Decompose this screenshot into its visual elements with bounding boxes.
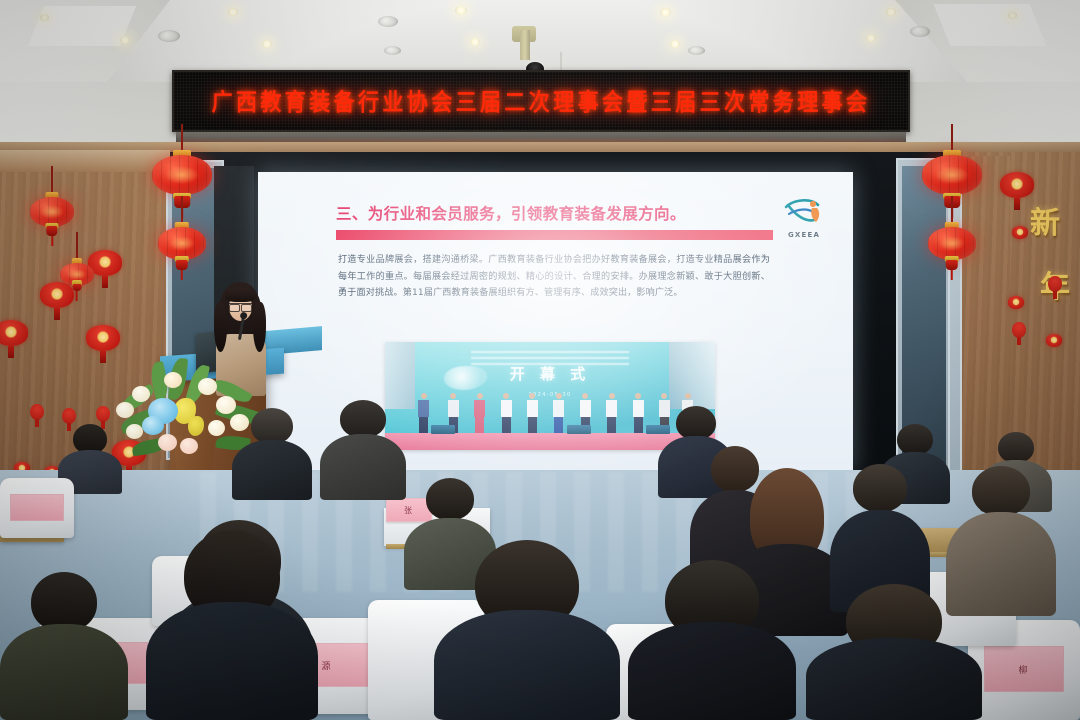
hanging-lantern xyxy=(928,222,976,268)
audience-shoulders xyxy=(320,434,406,500)
papercut-flake xyxy=(1048,276,1062,292)
photo-sidewall-left xyxy=(385,342,415,409)
papercut-lantern xyxy=(86,325,120,351)
papercut-lantern xyxy=(1000,172,1034,198)
rose xyxy=(180,438,198,454)
audience-head xyxy=(998,432,1034,463)
photo-stage-person xyxy=(633,393,644,433)
hydrangea xyxy=(142,416,164,435)
hanging-lantern xyxy=(60,258,94,290)
rose xyxy=(126,424,143,439)
papercut-flake xyxy=(30,404,44,420)
audience-head xyxy=(426,478,474,520)
audience-head xyxy=(251,408,293,444)
wood-wall-left-top-trim xyxy=(0,150,170,172)
downlight xyxy=(228,8,238,16)
slide-body-text: 打造专业品牌展会，搭建沟通桥梁。广西教育装备行业协会把办好教育装备展会，打造专业… xyxy=(338,252,770,302)
photo-stage-monitor xyxy=(567,425,591,434)
audience-head xyxy=(853,464,907,512)
photo-stage-monitor xyxy=(431,425,455,434)
gxeea-logo-icon xyxy=(782,196,826,230)
downlight xyxy=(670,40,680,48)
papercut-flower xyxy=(1008,296,1024,309)
conference-room-photo: 广西教育装备行业协会三届二次理事会暨三届三次常务理事会 新 年 xyxy=(0,0,1080,720)
audience-member-foreground xyxy=(806,584,982,720)
chair-name-card xyxy=(10,494,63,522)
rose xyxy=(198,378,217,395)
ceiling-speaker xyxy=(688,46,705,55)
audience-head xyxy=(676,406,716,440)
speaker-hair-left xyxy=(214,302,227,352)
photo-stage-person xyxy=(527,393,538,433)
chair-with-name-card xyxy=(0,478,74,538)
photo-headline: 开 幕 式 xyxy=(464,367,636,392)
association-logo: GXEEA xyxy=(773,188,835,246)
led-banner-screen: 广西教育装备行业协会三届二次理事会暨三届三次常务理事会 xyxy=(174,72,908,130)
audience-shoulders xyxy=(232,440,312,500)
downlight xyxy=(40,14,49,21)
rose xyxy=(116,402,134,418)
papercut-flower xyxy=(1046,334,1062,347)
audience-head xyxy=(897,424,933,455)
audience-head xyxy=(340,400,386,438)
papercut-flake xyxy=(1012,322,1026,338)
audience-member-foreground xyxy=(628,560,796,720)
downlight xyxy=(455,6,467,15)
audience-shoulders xyxy=(146,602,318,720)
photo-stage-person xyxy=(474,393,485,433)
chair-name-card: 柳 xyxy=(984,646,1065,692)
downlight xyxy=(886,8,896,16)
glasses-icon xyxy=(229,303,252,309)
rose xyxy=(208,420,225,436)
audience-member-foreground xyxy=(434,540,620,720)
audience-member xyxy=(232,408,312,500)
speaker-hair-front xyxy=(225,288,256,302)
photo-stage-person xyxy=(553,393,564,433)
rose xyxy=(164,372,182,388)
audience-head xyxy=(972,466,1030,516)
projector-mount xyxy=(520,30,530,60)
photo-stage-person xyxy=(418,393,429,433)
audience-shoulders xyxy=(806,638,982,720)
ceiling-speaker xyxy=(910,26,930,37)
papercut-flake xyxy=(96,406,110,422)
audience-shoulders xyxy=(0,624,128,720)
audience-member-foreground xyxy=(146,530,318,720)
downlight xyxy=(1008,12,1017,19)
hanging-lantern xyxy=(30,192,74,234)
audience-member xyxy=(0,572,128,720)
downlight xyxy=(660,8,671,17)
gold-character-new: 新 xyxy=(1030,198,1060,242)
downlight xyxy=(470,38,480,46)
ceiling-speaker xyxy=(158,30,180,42)
audience-shoulders xyxy=(434,610,620,720)
papercut-flake xyxy=(62,408,76,424)
audience-member xyxy=(320,400,406,500)
slide-title: 三、为行业和会员服务，引领教育装备发展方向。 xyxy=(336,202,686,224)
photo-backdrop-subtext xyxy=(471,347,629,364)
audience-head xyxy=(31,572,97,632)
downlight xyxy=(262,40,272,48)
audience-shoulders xyxy=(628,622,796,720)
downlight xyxy=(120,36,130,44)
ceiling-cove-right xyxy=(934,4,1047,46)
flower-accent xyxy=(188,416,204,436)
rose xyxy=(158,434,177,451)
ceiling-speaker xyxy=(384,46,401,55)
rose xyxy=(132,386,150,402)
led-banner-display: 广西教育装备行业协会三届二次理事会暨三届三次常务理事会 xyxy=(172,70,910,132)
photo-stage-person xyxy=(606,393,617,433)
slide-title-rule xyxy=(336,230,773,240)
papercut-flower xyxy=(1012,226,1028,239)
ceiling-speaker xyxy=(378,16,398,27)
hanging-lantern xyxy=(158,222,206,268)
gxeea-logo-text: GXEEA xyxy=(788,231,820,239)
downlight xyxy=(866,34,876,42)
speaker-hair-right xyxy=(253,302,266,352)
photo-stage-person xyxy=(501,393,512,433)
led-banner-text: 广西教育装备行业协会三届二次理事会暨三届三次常务理事会 xyxy=(212,84,871,118)
